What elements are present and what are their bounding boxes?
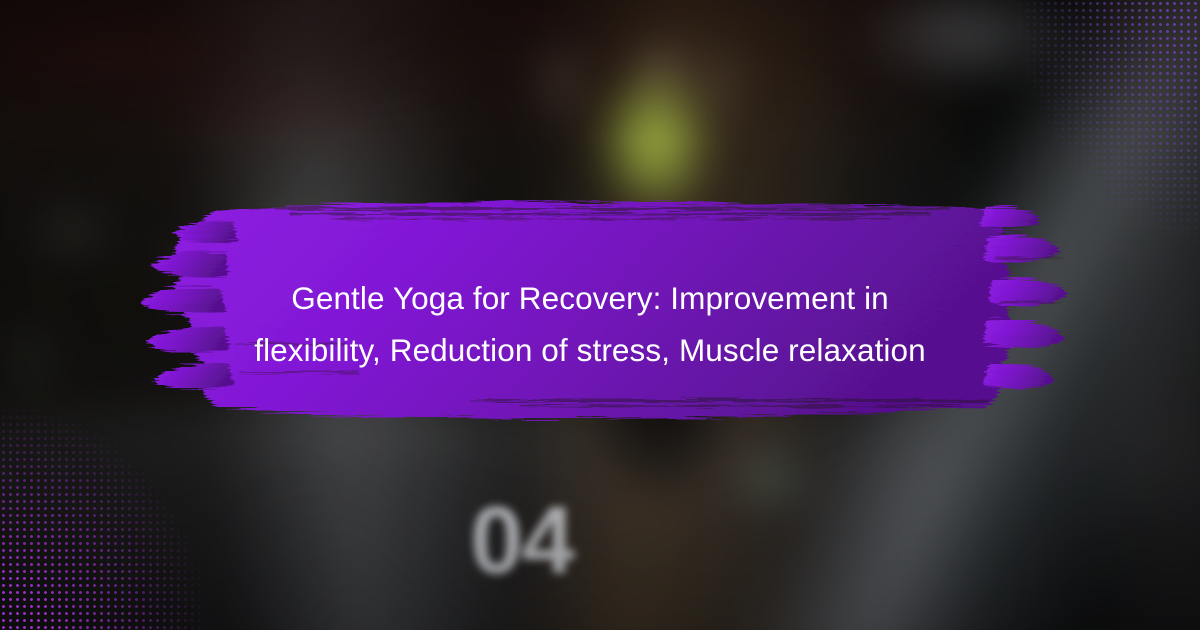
social-card-canvas: 04 xyxy=(0,0,1200,630)
headline: Gentle Yoga for Recovery: Improvement in… xyxy=(150,272,1030,376)
headline-line-1: Gentle Yoga for Recovery: Improvement in xyxy=(150,272,1030,324)
background-number-overlay: 04 xyxy=(470,486,573,596)
headline-line-2: flexibility, Reduction of stress, Muscle… xyxy=(150,324,1030,376)
